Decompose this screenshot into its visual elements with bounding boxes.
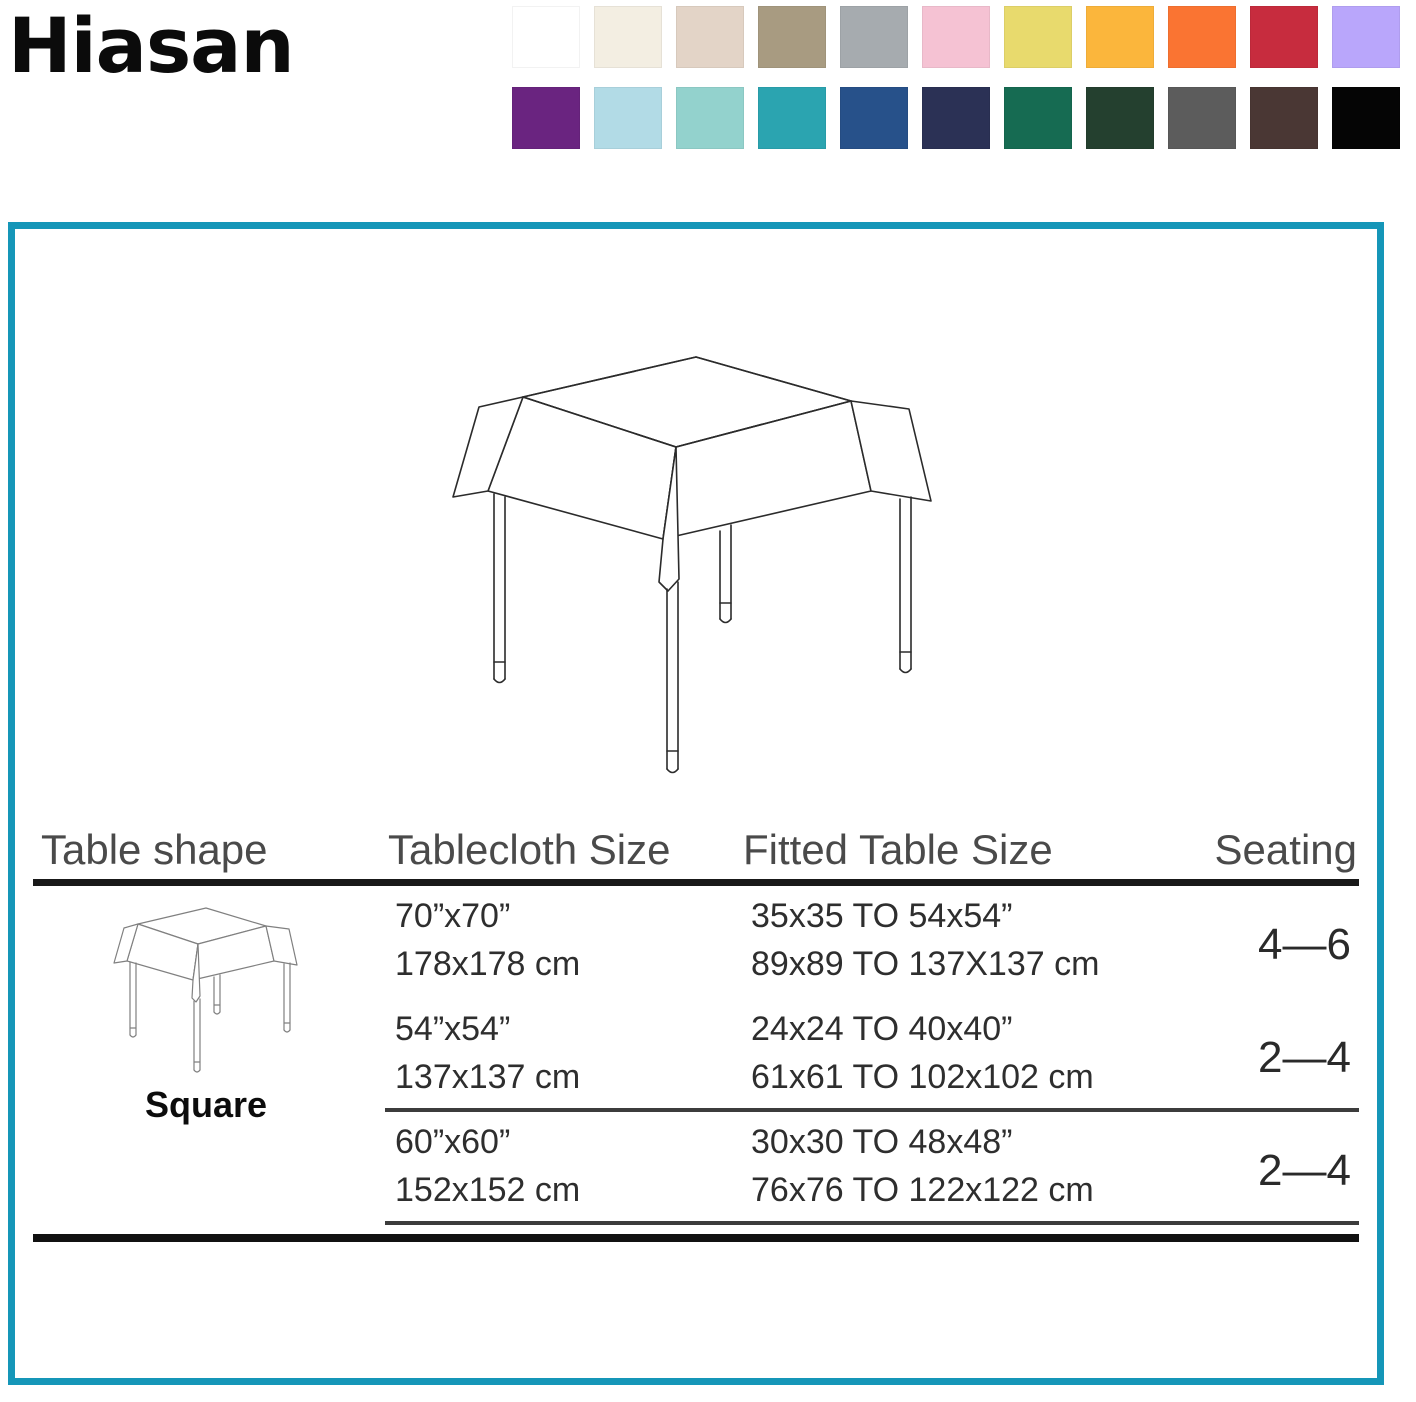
header-table-shape: Table shape (41, 829, 268, 871)
cell-tablecloth-size: 70”x70” 178x178 cm (395, 892, 580, 989)
color-swatch-grid (512, 6, 1412, 168)
swatch-yellow[interactable] (1004, 6, 1072, 68)
swatch-aqua[interactable] (676, 87, 744, 149)
table-body: Square 54”x54” 137x137 cm 24x24 TO 40x40… (33, 886, 1359, 1226)
brand-and-swatch-strip: Hiasan (0, 0, 1416, 200)
square-table-illustration (15, 329, 1377, 799)
cloth-size-inches: 70”x70” (395, 892, 580, 940)
swatch-red[interactable] (1250, 6, 1318, 68)
swatch-blush-pink[interactable] (922, 6, 990, 68)
cell-seating: 4—6 (1258, 914, 1351, 976)
header-tablecloth-size: Tablecloth Size (388, 829, 671, 871)
cell-tablecloth-size: 60”x60” 152x152 cm (395, 1118, 580, 1215)
swatch-purple[interactable] (512, 87, 580, 149)
swatch-dark-brown[interactable] (1250, 87, 1318, 149)
swatch-light-blue[interactable] (594, 87, 662, 149)
swatch-white[interactable] (512, 6, 580, 68)
row-divider (385, 1221, 1359, 1225)
brand-logo: Hiasan (8, 8, 294, 84)
fitted-size-inches: 35x35 TO 54x54” (751, 892, 1099, 940)
fitted-size-inches: 24x24 TO 40x40” (751, 1005, 1094, 1053)
header-fitted-table-size: Fitted Table Size (743, 829, 1053, 871)
swatch-taupe[interactable] (758, 6, 826, 68)
swatch-dark-green[interactable] (1086, 87, 1154, 149)
swatch-orange[interactable] (1168, 6, 1236, 68)
table-row: 54”x54” 137x137 cm 24x24 TO 40x40” 61x61… (33, 999, 1359, 1112)
cell-tablecloth-size: 54”x54” 137x137 cm (395, 1005, 580, 1102)
table-bottom-divider (33, 1234, 1359, 1242)
cell-seating: 2—4 (1258, 1140, 1351, 1202)
swatch-dark-gray[interactable] (1168, 87, 1236, 149)
cell-seating: 2—4 (1258, 1027, 1351, 1089)
cloth-size-cm: 152x152 cm (395, 1166, 580, 1214)
swatch-beige[interactable] (676, 6, 744, 68)
fitted-size-cm: 89x89 TO 137X137 cm (751, 940, 1099, 988)
swatch-lavender[interactable] (1332, 6, 1400, 68)
fitted-size-cm: 76x76 TO 122x122 cm (751, 1166, 1094, 1214)
size-table: Table shape Tablecloth Size Fitted Table… (33, 809, 1359, 1226)
table-row: 70”x70” 178x178 cm 35x35 TO 54x54” 89x89… (33, 886, 1359, 999)
cell-fitted-table-size: 24x24 TO 40x40” 61x61 TO 102x102 cm (751, 1005, 1094, 1102)
swatch-row-1 (512, 6, 1412, 68)
swatch-golden-yellow[interactable] (1086, 6, 1154, 68)
swatch-teal[interactable] (758, 87, 826, 149)
header-seating: Seating (1215, 829, 1357, 871)
swatch-row-2 (512, 87, 1412, 149)
header-divider (33, 879, 1359, 886)
swatch-navy[interactable] (922, 87, 990, 149)
cloth-size-cm: 137x137 cm (395, 1053, 580, 1101)
swatch-black[interactable] (1332, 87, 1400, 149)
swatch-emerald-green[interactable] (1004, 87, 1072, 149)
cell-fitted-table-size: 30x30 TO 48x48” 76x76 TO 122x122 cm (751, 1118, 1094, 1215)
fitted-size-cm: 61x61 TO 102x102 cm (751, 1053, 1094, 1101)
cloth-size-inches: 60”x60” (395, 1118, 580, 1166)
cloth-size-cm: 178x178 cm (395, 940, 580, 988)
table-row: 60”x60” 152x152 cm 30x30 TO 48x48” 76x76… (33, 1112, 1359, 1225)
swatch-royal-blue[interactable] (840, 87, 908, 149)
size-chart-panel: Table shape Tablecloth Size Fitted Table… (8, 222, 1384, 1385)
fitted-size-inches: 30x30 TO 48x48” (751, 1118, 1094, 1166)
cell-fitted-table-size: 35x35 TO 54x54” 89x89 TO 137X137 cm (751, 892, 1099, 989)
swatch-gray[interactable] (840, 6, 908, 68)
swatch-ivory[interactable] (594, 6, 662, 68)
table-header-row: Table shape Tablecloth Size Fitted Table… (33, 809, 1359, 871)
cloth-size-inches: 54”x54” (395, 1005, 580, 1053)
